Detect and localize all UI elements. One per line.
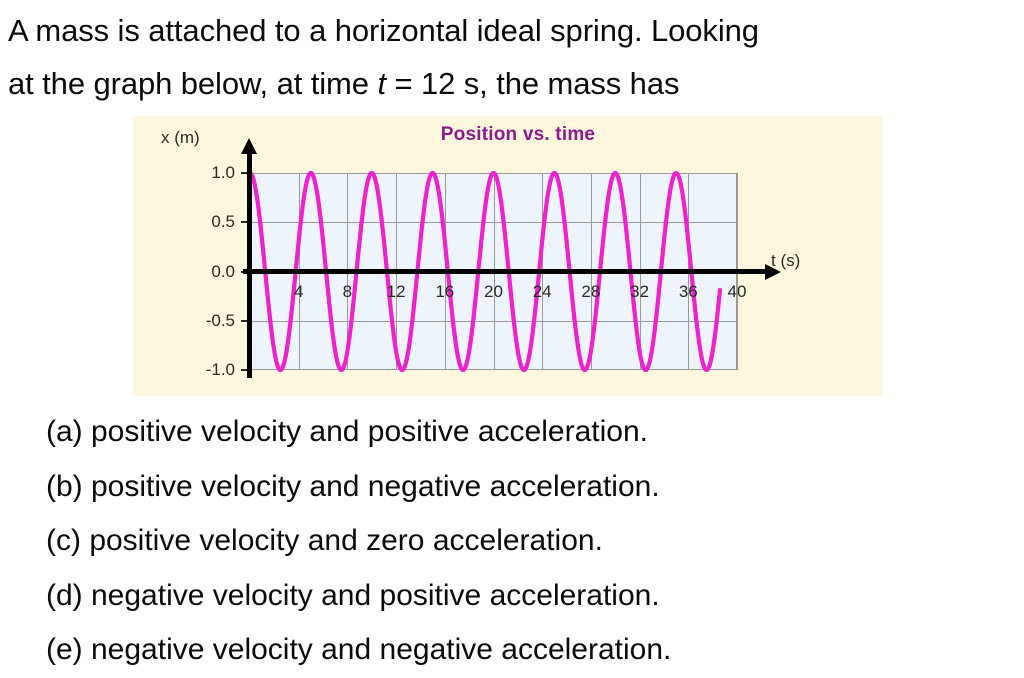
x-tick-label-24: 24 <box>522 282 562 302</box>
question-line-2-suffix: = 12 s, the mass has <box>386 66 679 101</box>
x-tick-label-40: 40 <box>717 282 757 302</box>
x-tick-label-20: 20 <box>474 282 514 302</box>
x-tick-label-16: 16 <box>425 282 465 302</box>
x-axis-arrow-icon <box>765 264 781 280</box>
x-tick-label-4: 4 <box>279 282 319 302</box>
question-line-1: A mass is attached to a horizontal ideal… <box>8 4 1018 57</box>
y-tick-label-0.0: 0.0 <box>179 262 235 282</box>
x-tick-label-32: 32 <box>620 282 660 302</box>
position-vs-time-figure: Position vs. time x (m) t (s) 1.00.50.0-… <box>133 116 883 396</box>
y-tick-label-0.5: 0.5 <box>179 212 235 232</box>
question-stem: A mass is attached to a horizontal ideal… <box>8 4 1018 110</box>
x-tick-label-36: 36 <box>668 282 708 302</box>
y-tick-label--0.5: -0.5 <box>179 311 235 331</box>
y-axis-arrow-icon <box>241 138 257 154</box>
option-b[interactable]: (b) positive velocity and negative accel… <box>46 460 1006 515</box>
x-tick-label-8: 8 <box>327 282 367 302</box>
option-e[interactable]: (e) negative velocity and negative accel… <box>46 623 1006 678</box>
answer-options: (a) positive velocity and positive accel… <box>46 405 1006 678</box>
x-tick-labels: 481216202428323640 <box>250 282 737 306</box>
x-tick-label-28: 28 <box>571 282 611 302</box>
question-line-2-prefix: at the graph below, at time <box>8 66 377 101</box>
y-axis-label: x (m) <box>161 128 200 148</box>
question-line-2: at the graph below, at time t = 12 s, th… <box>8 57 1018 110</box>
x-tick-label-12: 12 <box>376 282 416 302</box>
y-tick-labels: 1.00.50.0-0.5-1.0 <box>179 173 235 370</box>
y-tick-label--1.0: -1.0 <box>179 360 235 380</box>
y-tick-label-1.0: 1.0 <box>179 163 235 183</box>
option-d[interactable]: (d) negative velocity and positive accel… <box>46 569 1006 624</box>
time-variable-symbol: t <box>377 66 386 101</box>
option-c[interactable]: (c) positive velocity and zero accelerat… <box>46 514 1006 569</box>
option-a[interactable]: (a) positive velocity and positive accel… <box>46 405 1006 460</box>
x-axis-line <box>243 269 768 274</box>
y-axis-line <box>247 151 252 378</box>
